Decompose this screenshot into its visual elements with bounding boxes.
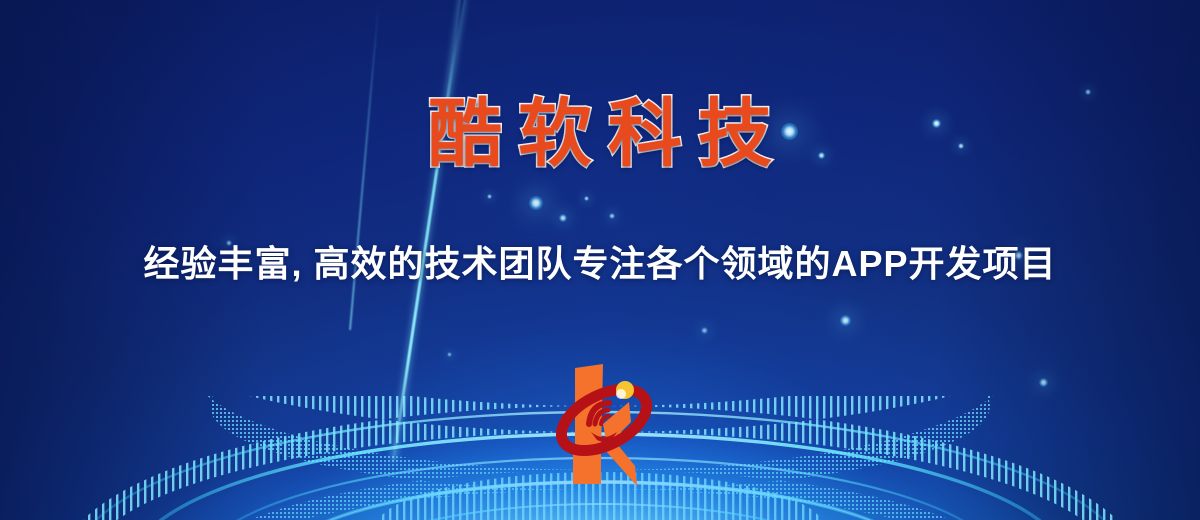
logo-svg — [545, 362, 663, 490]
tech-company-hero-banner: 酷软科技 经验丰富, 高效的技术团队专注各个领域的APP开发项目 — [0, 0, 1200, 520]
kuruan-k-logo — [545, 362, 663, 490]
dot-spark-icon — [616, 389, 626, 399]
page-title: 酷软科技 — [0, 97, 1200, 171]
page-subtitle: 经验丰富, 高效的技术团队专注各个领域的APP开发项目 — [0, 243, 1200, 284]
